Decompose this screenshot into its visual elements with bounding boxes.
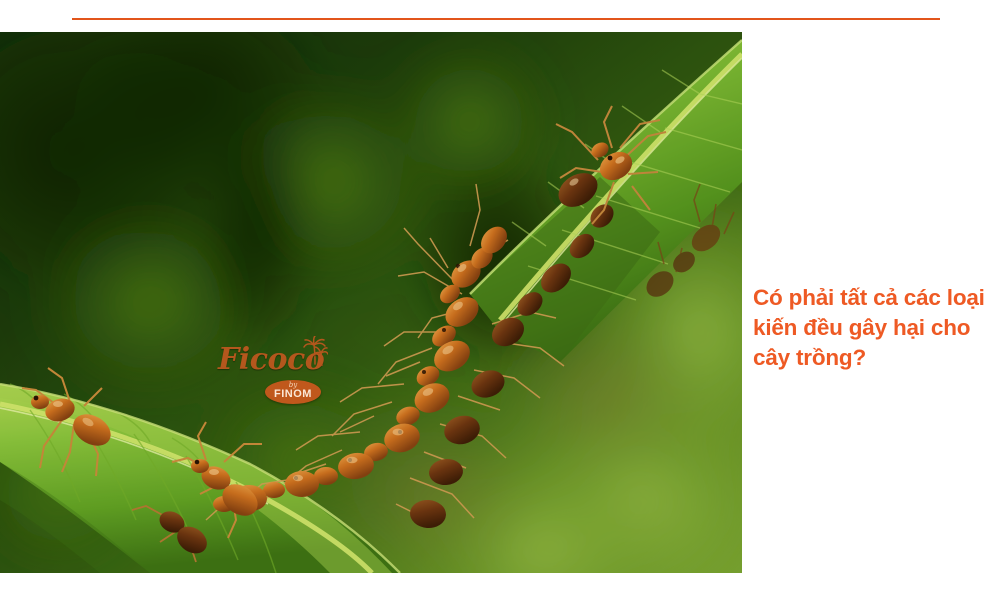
photo-vignette <box>0 32 742 573</box>
ant-bridge-photograph <box>0 32 742 573</box>
headline-text: Có phải tất cả các loại kiến đều gây hại… <box>753 283 985 373</box>
article-photo: Ficoco by FINOM <box>0 32 742 573</box>
top-horizontal-rule <box>72 18 940 20</box>
